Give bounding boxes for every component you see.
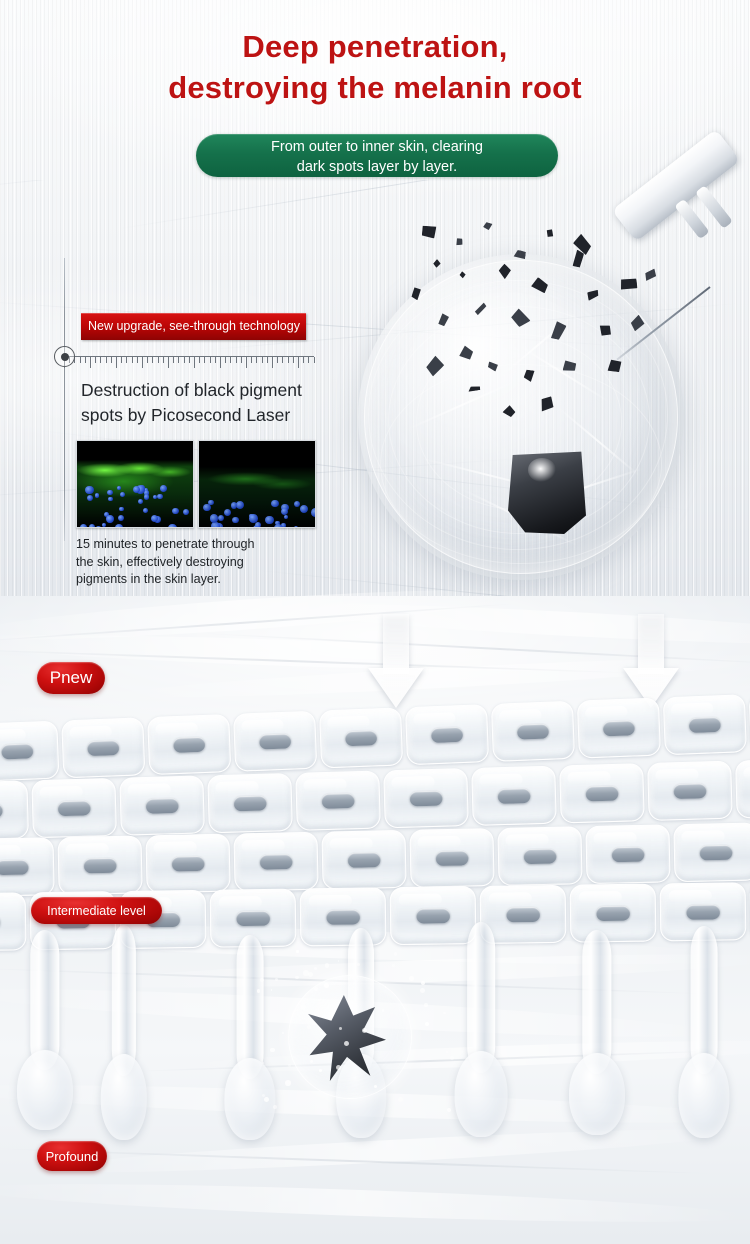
skin-cell [577,697,661,758]
skin-cell [471,766,557,826]
new-upgrade-label: New upgrade, see-through technology [81,313,306,340]
skin-cell [233,711,317,772]
glass-column [672,926,736,1138]
cell-nucleus [435,850,468,865]
skin-cell [31,778,117,838]
layer-badge-pnew: Pnew [37,662,105,694]
cell-nucleus [523,848,556,863]
cell-nucleus [611,847,644,862]
glass-column [448,922,514,1137]
skin-cell [405,704,489,765]
panel-heading-line-1: Destruction of black pigment [81,378,331,403]
microscopy-image-pair [76,440,316,528]
cell-nucleus [233,795,266,810]
cell-nucleus [326,909,360,924]
skin-cell [673,823,750,883]
cell-nucleus [699,845,732,860]
cell-nucleus [84,858,117,873]
glass-column [10,930,80,1130]
skin-cell [0,780,29,840]
skin-cell [295,771,381,831]
fluorescence-after-image [198,440,316,528]
cell-nucleus [686,904,720,919]
laser-needle [616,286,710,360]
ruler-scale [64,356,314,378]
promo-page: Deep penetration, destroying the melanin… [0,0,750,1244]
skin-cell [663,694,747,755]
cell-nucleus [146,798,179,813]
cell-nucleus [321,793,354,808]
cell-nucleus [345,730,378,746]
cell-nucleus [347,852,380,867]
cell-nucleus [506,907,540,922]
cell-nucleus [497,788,530,803]
subtitle-banner: From outer to inner skin, clearing dark … [196,134,558,177]
skin-cell [57,835,142,895]
cell-nucleus [517,723,550,739]
title-line-2: destroying the melanin root [0,67,750,108]
skin-cell [319,707,403,768]
cell-nucleus [172,856,205,871]
pigment-cluster [494,426,602,538]
skin-cell [0,837,55,897]
skin-cell [497,826,582,886]
glass-column [95,925,153,1140]
skin-cell [207,773,293,833]
cell-nucleus [596,906,630,921]
skin-cell [409,828,494,888]
cell-nucleus [673,783,706,798]
banner-line-1: From outer to inner skin, clearing [271,137,483,157]
skin-cell [119,775,205,835]
panel-heading-line-2: spots by Picosecond Laser [81,403,331,428]
cell-nucleus [409,791,442,806]
cell-nucleus [58,800,91,815]
penetration-arrow [623,614,679,706]
layer-badge-intermediate: Intermediate level [31,897,162,924]
title-line-1: Deep penetration, [242,29,507,64]
cell-nucleus [0,803,3,818]
caption-line-2: the skin, effectively destroying [76,554,291,572]
penetration-arrow [368,614,424,706]
laser-handpiece-icon [558,192,742,380]
cell-nucleus [260,854,293,869]
skin-cell [491,701,575,762]
skin-cell [559,763,645,823]
glass-column [562,930,632,1135]
cell-nucleus [603,720,636,736]
skin-cell [61,717,145,778]
cell-nucleus [585,786,618,801]
crosshair-icon [54,346,75,367]
panel-vertical-guide [64,258,65,541]
skin-cell [321,830,406,890]
cell-nucleus [431,727,464,743]
skin-cell [145,834,230,894]
layer-badge-profound: Profound [37,1141,107,1171]
pigment-core [508,450,586,534]
caption-line-3: pigments in the skin layer. [76,571,291,589]
cell-nucleus [236,911,270,926]
skin-cell [233,832,318,892]
cell-nucleus [416,908,450,923]
panel-heading: Destruction of black pigment spots by Pi… [81,378,331,428]
glass-column [218,935,282,1140]
caption-line-1: 15 minutes to penetrate through [76,536,291,554]
page-title: Deep penetration, destroying the melanin… [0,26,750,108]
skin-cell [585,824,670,884]
cell-nucleus [1,743,34,759]
cell-nucleus [173,737,206,753]
skin-cell [0,721,59,782]
cell-nucleus [689,717,722,733]
microscopy-caption: 15 minutes to penetrate through the skin… [76,536,291,589]
hero-illustration [336,196,736,608]
fluorescence-before-image [76,440,194,528]
cell-nucleus [259,733,292,749]
skin-cell [383,768,469,828]
skin-cell [735,758,750,818]
banner-line-2: dark spots layer by layer. [297,157,457,177]
cell-nucleus [87,740,120,756]
skin-cell [647,761,733,821]
cell-nucleus [0,860,29,875]
skin-cell [147,714,231,775]
